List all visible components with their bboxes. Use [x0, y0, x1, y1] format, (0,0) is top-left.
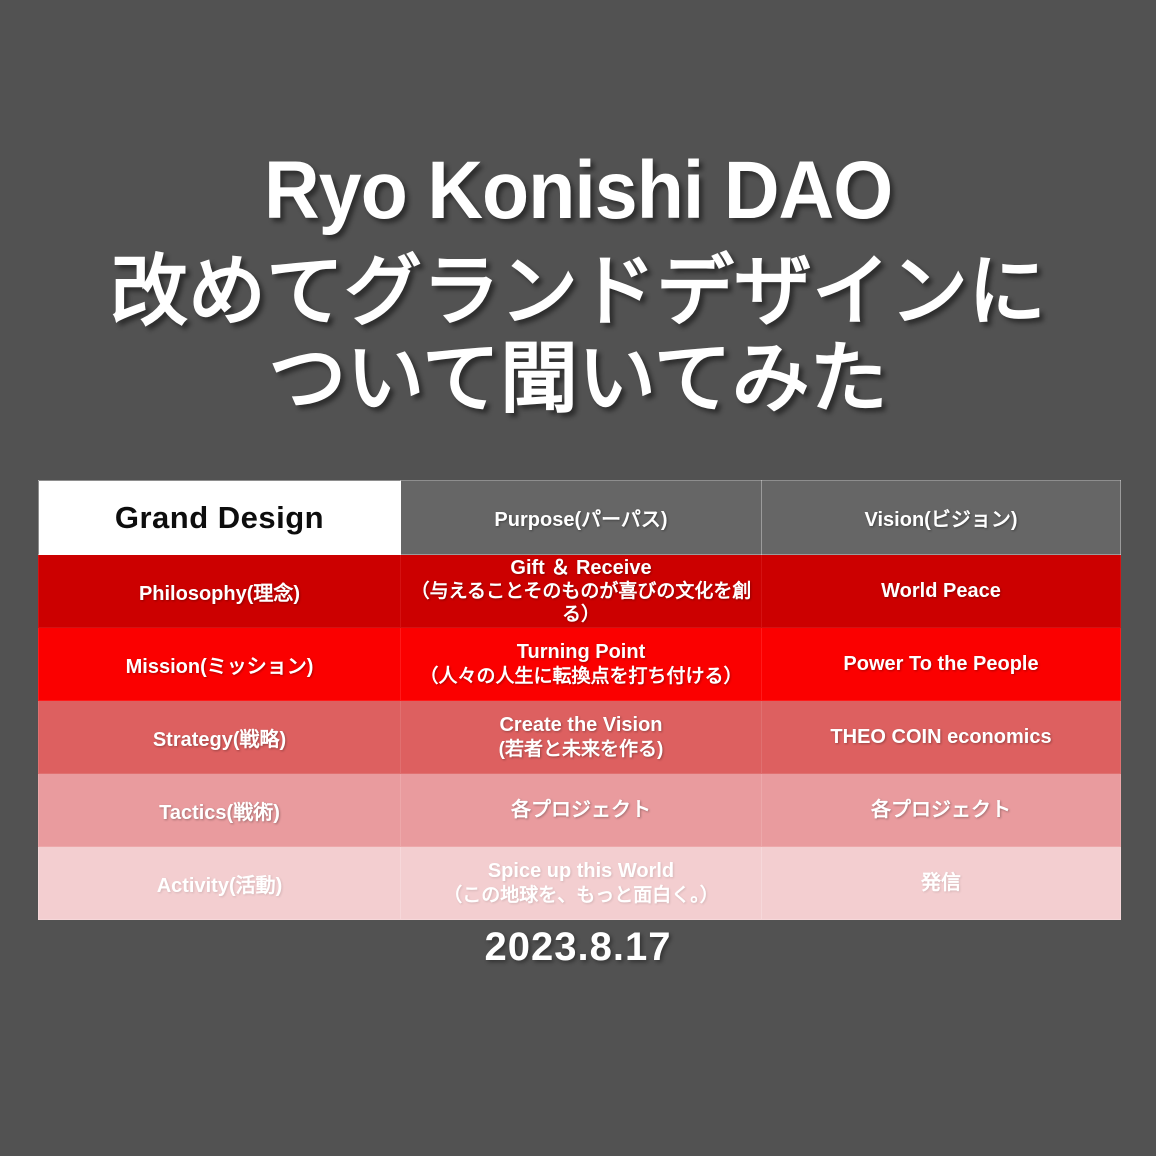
- row-purpose-philosophy: Gift ＆ Receive （与えることそのものが喜びの文化を創る）: [401, 555, 762, 628]
- row-purpose-strategy: Create the Vision (若者と未来を作る): [401, 701, 762, 774]
- table-header-purpose: Purpose(パーパス): [401, 481, 762, 555]
- table-header-vision: Vision(ビジョン): [762, 481, 1121, 555]
- purpose-jp-strategy: (若者と未来を作る): [401, 738, 761, 761]
- row-vision-strategy: THEO COIN economics: [762, 701, 1121, 774]
- row-label-strategy: Strategy(戦略): [39, 701, 401, 774]
- row-label-mission: Mission(ミッション): [39, 628, 401, 701]
- row-vision-activity: 発信: [762, 847, 1121, 920]
- grand-design-table: Grand Design Purpose(パーパス) Vision(ビジョン) …: [38, 480, 1121, 920]
- row-label-activity: Activity(活動): [39, 847, 401, 920]
- table-header-row: Grand Design Purpose(パーパス) Vision(ビジョン): [39, 481, 1121, 555]
- vision-en-activity: 発信: [762, 871, 1120, 895]
- page-title: Ryo Konishi DAO: [264, 150, 892, 232]
- vision-en-tactics: 各プロジェクト: [762, 798, 1120, 822]
- page-subtitle: 改めてグランドデザインに ついて聞いてみた: [110, 248, 1046, 423]
- row-purpose-activity: Spice up this World （この地球を、もっと面白く。）: [401, 847, 762, 920]
- subtitle-line-1: 改めてグランドデザインに: [110, 248, 1046, 335]
- table-row: Philosophy(理念) Gift ＆ Receive （与えることそのもの…: [39, 555, 1121, 628]
- row-vision-philosophy: World Peace: [762, 555, 1121, 628]
- title-block: Ryo Konishi DAO 改めてグランドデザインに ついて聞いてみた: [0, 0, 1156, 478]
- table-row: Tactics(戦術) 各プロジェクト 各プロジェクト: [39, 774, 1121, 847]
- row-purpose-mission: Turning Point （人々の人生に転換点を打ち付ける）: [401, 628, 762, 701]
- purpose-en-mission: Turning Point: [401, 640, 761, 664]
- vision-en-philosophy: World Peace: [762, 579, 1120, 603]
- purpose-en-philosophy: Gift ＆ Receive: [401, 556, 761, 580]
- subtitle-line-2: ついて聞いてみた: [110, 335, 1046, 422]
- row-purpose-tactics: 各プロジェクト: [401, 774, 762, 847]
- row-vision-mission: Power To the People: [762, 628, 1121, 701]
- vision-en-strategy: THEO COIN economics: [762, 725, 1120, 749]
- row-vision-tactics: 各プロジェクト: [762, 774, 1121, 847]
- purpose-jp-philosophy: （与えることそのものが喜びの文化を創る）: [401, 580, 761, 626]
- date-label: 2023.8.17: [0, 925, 1156, 970]
- purpose-en-strategy: Create the Vision: [401, 713, 761, 737]
- vision-en-mission: Power To the People: [762, 652, 1120, 676]
- row-label-philosophy: Philosophy(理念): [39, 555, 401, 628]
- table-row: Mission(ミッション) Turning Point （人々の人生に転換点を…: [39, 628, 1121, 701]
- purpose-en-activity: Spice up this World: [401, 859, 761, 883]
- purpose-jp-mission: （人々の人生に転換点を打ち付ける）: [401, 665, 761, 688]
- table-row: Strategy(戦略) Create the Vision (若者と未来を作る…: [39, 701, 1121, 774]
- table-header-grand-design: Grand Design: [39, 481, 401, 555]
- purpose-en-tactics: 各プロジェクト: [401, 798, 761, 822]
- row-label-tactics: Tactics(戦術): [39, 774, 401, 847]
- purpose-jp-activity: （この地球を、もっと面白く。）: [401, 884, 761, 907]
- table-row: Activity(活動) Spice up this World （この地球を、…: [39, 847, 1121, 920]
